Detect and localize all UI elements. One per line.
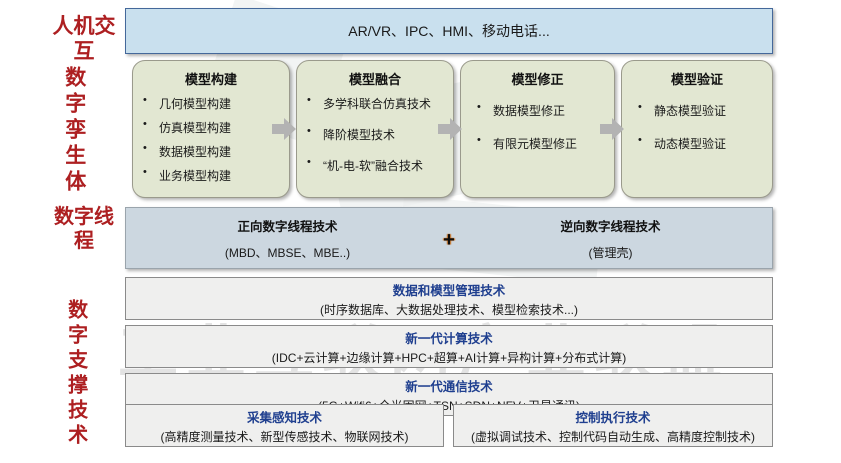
diagram-root: 工业互联网产业联盟 Alliance of Industrial Interne…	[0, 0, 841, 463]
support-row-sub: (IDC+云计算+边缘计算+HPC+超算+AI计算+异构计算+分布式计算)	[272, 349, 626, 366]
model-box-validation: 模型验证 静态模型验证 动态模型验证	[621, 60, 773, 198]
model-box-item: 几何模型构建	[133, 95, 289, 112]
forward-thread-sub: (MBD、MBSE、MBE..)	[126, 244, 449, 261]
sidebar-item-digital-support-technology: 数字支撑技术	[64, 294, 88, 454]
arrow-right-icon	[272, 118, 296, 140]
model-box-list: 多学科联合仿真技术 降阶模型技术 “机-电-软”融合技术	[297, 95, 453, 174]
reverse-thread-sub: (管理壳)	[449, 244, 772, 261]
forward-digital-thread: 正向数字线程技术 (MBD、MBSE、MBE..)	[126, 216, 449, 261]
support-row-title: 新一代计算技术	[405, 328, 493, 347]
support-row-title: 数据和模型管理技术	[393, 280, 506, 299]
model-box-item: “机-电-软”融合技术	[297, 157, 453, 174]
model-box-item: 数据模型构建	[133, 143, 289, 160]
reverse-digital-thread: 逆向数字线程技术 (管理壳)	[449, 216, 772, 261]
interaction-banner: AR/VR、IPC、HMI、移动电话...	[125, 8, 773, 54]
support-row-title: 控制执行技术	[575, 407, 650, 426]
model-box-title: 模型修正	[461, 69, 614, 88]
model-box-item: 降阶模型技术	[297, 126, 453, 143]
content-layer: AR/VR、IPC、HMI、移动电话... 模型构建 几何模型构建 仿真模型构建…	[0, 0, 841, 463]
support-row-sub: (高精度测量技术、新型传感技术、物联网技术)	[161, 428, 409, 445]
model-box-item: 数据模型修正	[461, 102, 614, 119]
model-box-correction: 模型修正 数据模型修正 有限元模型修正	[460, 60, 615, 198]
reverse-thread-title: 逆向数字线程技术	[449, 216, 772, 235]
model-box-list: 数据模型修正 有限元模型修正	[461, 102, 614, 152]
model-box-construction: 模型构建 几何模型构建 仿真模型构建 数据模型构建 业务模型构建	[132, 60, 290, 198]
model-box-title: 模型构建	[133, 69, 289, 88]
support-row-title: 采集感知技术	[247, 407, 322, 426]
support-row-next-gen-computing: 新一代计算技术 (IDC+云计算+边缘计算+HPC+超算+AI计算+异构计算+分…	[125, 325, 773, 368]
model-box-fusion: 模型融合 多学科联合仿真技术 降阶模型技术 “机-电-软”融合技术	[296, 60, 454, 198]
support-row-data-model-management: 数据和模型管理技术 (时序数据库、大数据处理技术、模型检索技术...)	[125, 277, 773, 320]
model-box-item: 静态模型验证	[622, 102, 772, 119]
model-box-title: 模型融合	[297, 69, 453, 88]
support-row-control-execution: 控制执行技术 (虚拟调试技术、控制代码自动生成、高精度控制技术)	[453, 404, 773, 447]
sidebar: 人机交互 数字孪生体 数字线程 数字支撑技术	[0, 0, 120, 463]
model-box-item: 多学科联合仿真技术	[297, 95, 453, 112]
model-box-list: 静态模型验证 动态模型验证	[622, 102, 772, 152]
support-row-title: 新一代通信技术	[405, 376, 493, 395]
model-box-item: 仿真模型构建	[133, 119, 289, 136]
support-row-sensing: 采集感知技术 (高精度测量技术、新型传感技术、物联网技术)	[125, 404, 444, 447]
support-row-sub: (虚拟调试技术、控制代码自动生成、高精度控制技术)	[471, 428, 755, 445]
model-box-item: 有限元模型修正	[461, 135, 614, 152]
sidebar-item-digital-twin: 数字孪生体	[62, 66, 87, 196]
model-box-list: 几何模型构建 仿真模型构建 数据模型构建 业务模型构建	[133, 95, 289, 184]
sidebar-item-human-machine-interaction: 人机交互	[52, 14, 116, 64]
support-row-sub: (时序数据库、大数据处理技术、模型检索技术...)	[320, 301, 578, 318]
arrow-right-icon	[600, 118, 624, 140]
interaction-banner-label: AR/VR、IPC、HMI、移动电话...	[348, 21, 549, 41]
model-box-item: 动态模型验证	[622, 135, 772, 152]
forward-thread-title: 正向数字线程技术	[126, 216, 449, 235]
arrow-right-icon	[438, 118, 462, 140]
digital-thread-band: 正向数字线程技术 (MBD、MBSE、MBE..) + 逆向数字线程技术 (管理…	[125, 207, 773, 269]
model-box-title: 模型验证	[622, 69, 772, 88]
sidebar-item-digital-thread: 数字线程	[50, 205, 118, 252]
model-box-item: 业务模型构建	[133, 167, 289, 184]
